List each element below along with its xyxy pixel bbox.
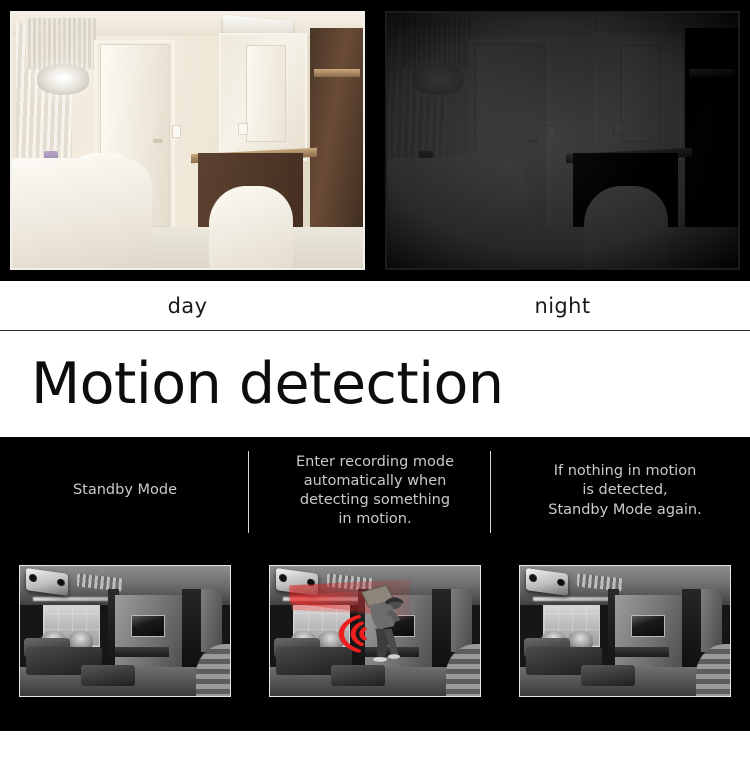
thumbnail-motion-detected bbox=[269, 565, 481, 697]
motion-step-2-caption: Enter recording mode automatically when … bbox=[296, 453, 454, 530]
thumbnail-standby-before bbox=[19, 565, 231, 697]
thumbnail-standby-again bbox=[519, 565, 731, 697]
camera-preview-strip bbox=[0, 0, 750, 281]
camera-frame-night bbox=[385, 11, 740, 270]
motion-step-thumbnails bbox=[0, 565, 750, 717]
light-switch-mirrored bbox=[238, 123, 247, 136]
light-switch bbox=[172, 125, 181, 138]
white-sofa bbox=[12, 158, 152, 268]
motion-detection-panel: Standby Mode Enter recording mode automa… bbox=[0, 437, 750, 731]
motion-step-3-caption: If nothing in motion is detected, Standb… bbox=[548, 462, 701, 519]
camera-frame-day bbox=[10, 11, 365, 270]
page-title: Motion detection bbox=[31, 356, 504, 413]
television bbox=[131, 615, 165, 637]
camera-mode-labels: day night bbox=[0, 281, 750, 331]
chandelier-light bbox=[37, 64, 90, 95]
column-divider-1 bbox=[248, 451, 249, 533]
motion-step-1: Standby Mode bbox=[0, 437, 250, 545]
motion-step-1-caption: Standby Mode bbox=[73, 481, 177, 500]
ottoman bbox=[81, 665, 136, 686]
bottom-spacer bbox=[0, 731, 750, 765]
section-header: Motion detection bbox=[0, 331, 750, 437]
room-scene-day bbox=[12, 13, 363, 268]
label-day: day bbox=[0, 281, 375, 331]
thumbnail-slot-2 bbox=[250, 565, 500, 717]
wall-mirror bbox=[219, 33, 307, 161]
motion-step-3: If nothing in motion is detected, Standb… bbox=[500, 437, 750, 545]
label-night: night bbox=[375, 281, 750, 331]
dining-chair bbox=[209, 186, 293, 268]
thumbnail-slot-1 bbox=[0, 565, 250, 717]
camera-view-day bbox=[0, 0, 375, 281]
column-divider-2 bbox=[490, 451, 491, 533]
intruder-figure bbox=[360, 584, 406, 678]
motion-step-2: Enter recording mode automatically when … bbox=[250, 437, 500, 545]
room-scene-night bbox=[387, 13, 738, 268]
camera-view-night bbox=[375, 0, 750, 281]
motion-step-captions: Standby Mode Enter recording mode automa… bbox=[0, 437, 750, 545]
thumbnail-slot-3 bbox=[500, 565, 750, 717]
